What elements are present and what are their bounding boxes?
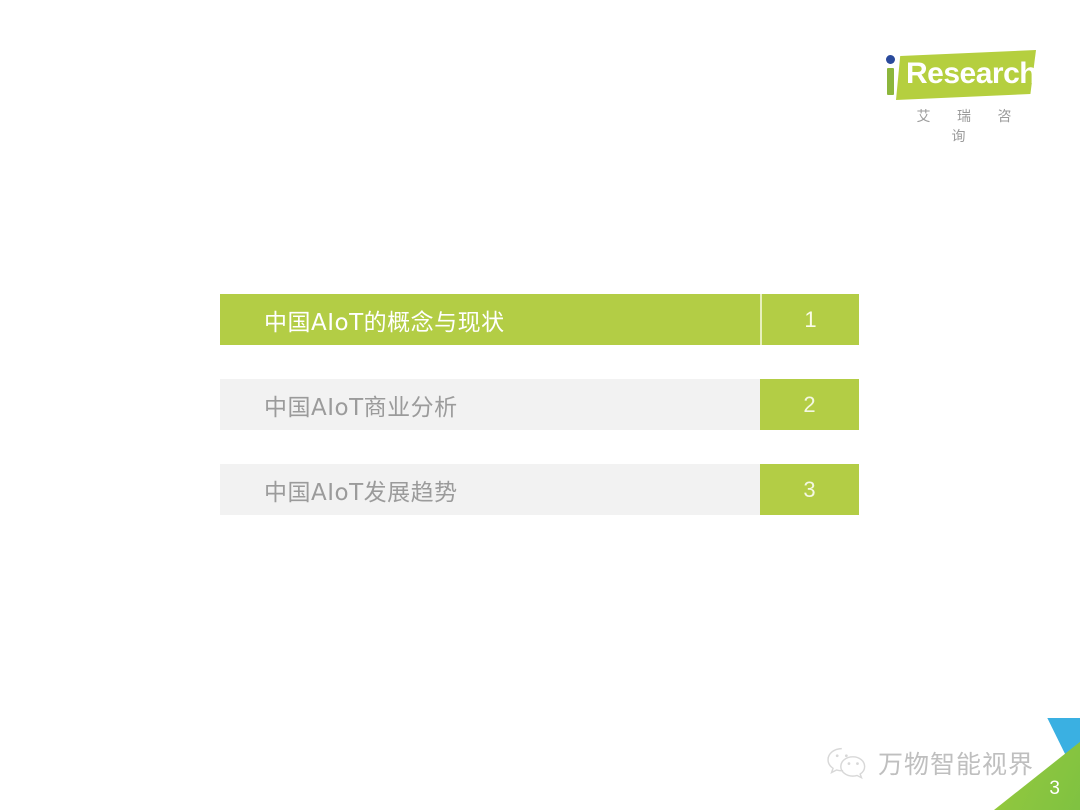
agenda-item-2-number: 2 <box>760 379 859 430</box>
logo-mark: Research <box>878 48 1038 102</box>
logo-letter-i-dot-icon <box>886 55 895 64</box>
agenda-item-1-number: 1 <box>760 294 859 345</box>
agenda-item-3-title: 中国AIoT发展趋势 <box>220 464 760 515</box>
logo-letter-i-stem <box>887 68 894 95</box>
agenda-item-2[interactable]: 中国AIoT商业分析 2 <box>220 379 859 430</box>
agenda-list: 中国AIoT的概念与现状 1 中国AIoT商业分析 2 中国AIoT发展趋势 3 <box>220 294 859 515</box>
logo-wordmark: Research <box>906 55 1037 93</box>
agenda-item-3[interactable]: 中国AIoT发展趋势 3 <box>220 464 859 515</box>
wechat-icon <box>826 746 868 780</box>
agenda-item-1[interactable]: 中国AIoT的概念与现状 1 <box>220 294 859 345</box>
logo-subtitle: 艾 瑞 咨 询 <box>890 106 1038 146</box>
agenda-item-1-title: 中国AIoT的概念与现状 <box>220 294 760 345</box>
page-number: 3 <box>1049 778 1060 800</box>
watermark-text: 万物智能视界 <box>878 745 1034 781</box>
watermark: 万物智能视界 <box>826 742 1034 784</box>
agenda-item-3-number: 3 <box>760 464 859 515</box>
iresearch-logo: Research 艾 瑞 咨 询 <box>878 48 1038 140</box>
agenda-item-2-title: 中国AIoT商业分析 <box>220 379 760 430</box>
slide-canvas: Research 艾 瑞 咨 询 中国AIoT的概念与现状 1 中国AIoT商业… <box>0 0 1080 810</box>
